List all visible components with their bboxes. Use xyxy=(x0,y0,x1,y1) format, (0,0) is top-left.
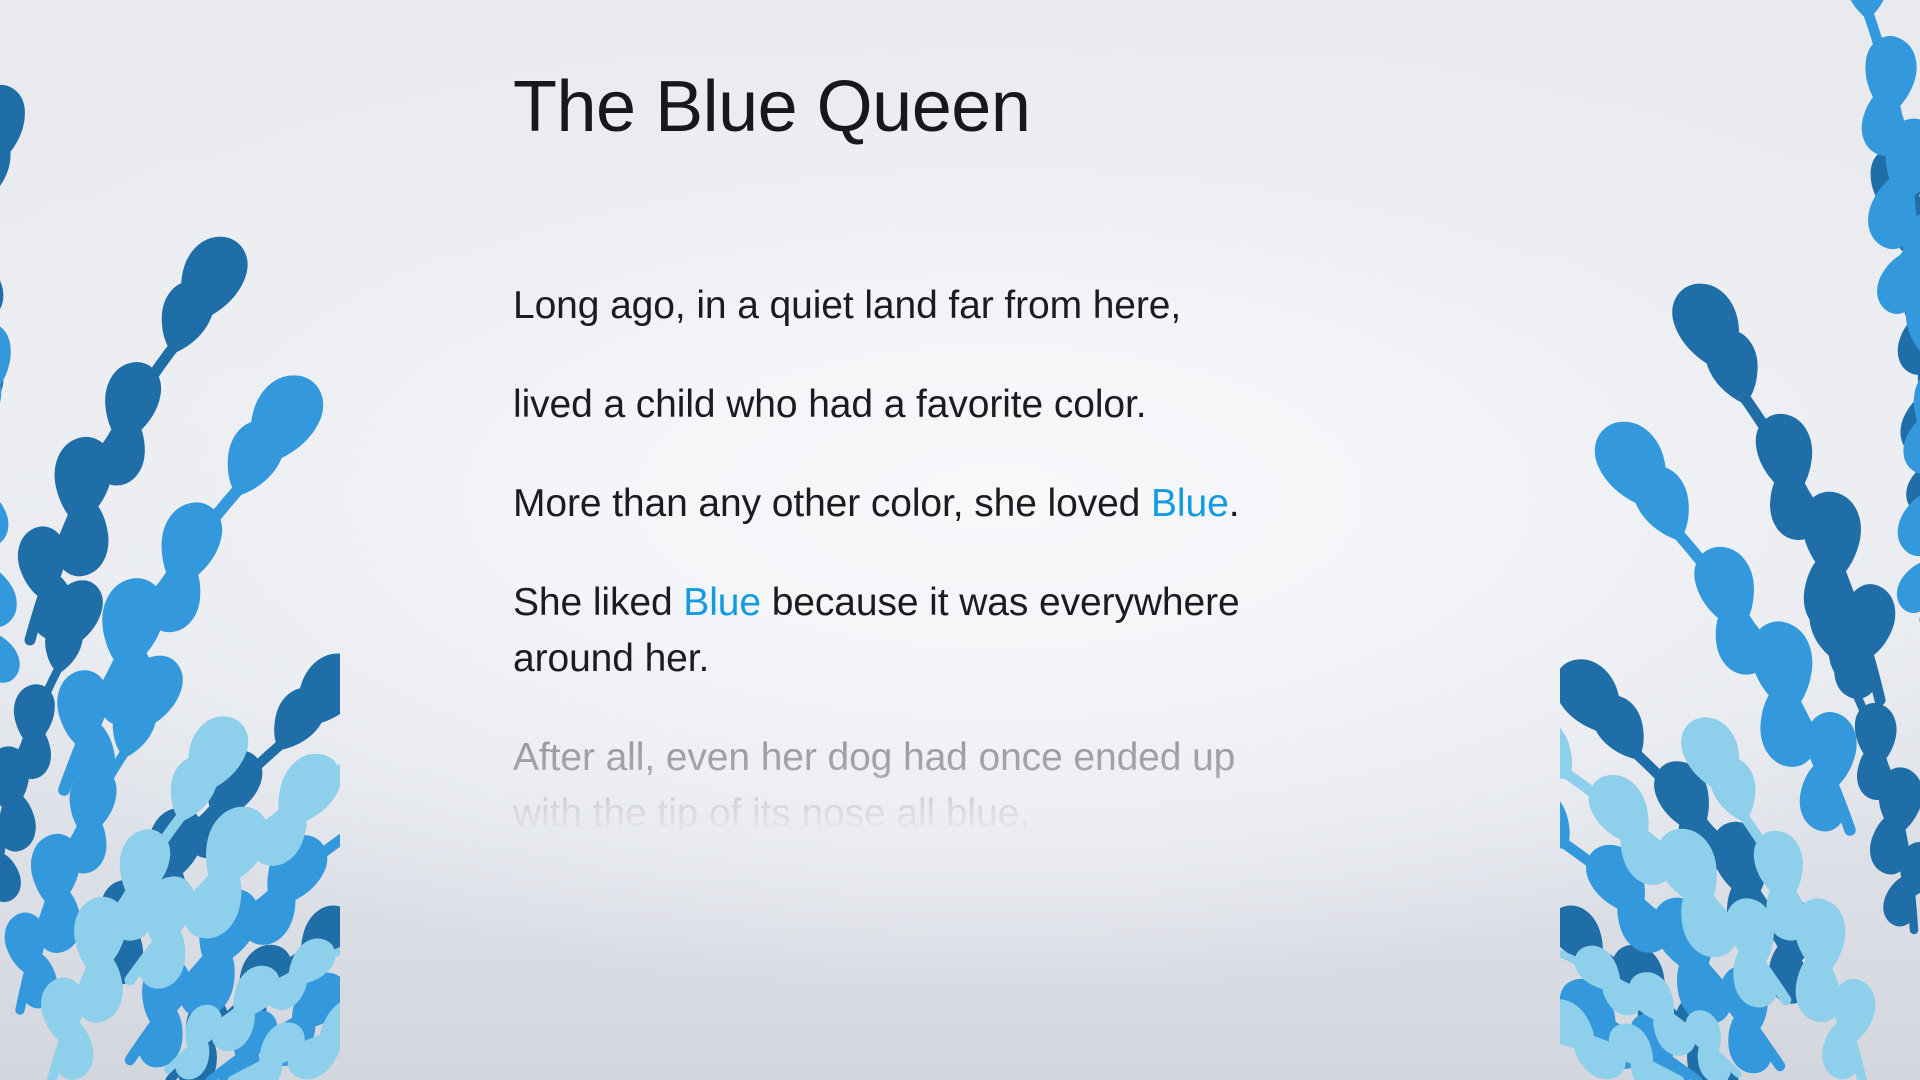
story-body: Long ago, in a quiet land far from here,… xyxy=(513,278,1453,842)
paragraph-1: Long ago, in a quiet land far from here, xyxy=(513,278,1453,334)
paragraph-4: She liked Blue because it was everywhere… xyxy=(513,575,1453,687)
story-text: because it was everywhere xyxy=(761,581,1240,624)
paragraph-2: lived a child who had a favorite color. xyxy=(513,377,1453,433)
story-text: More than any other color, she loved xyxy=(513,482,1151,525)
paragraph-5: After all, even her dog had once ended u… xyxy=(513,730,1453,842)
paragraph-3: More than any other color, she loved Blu… xyxy=(513,476,1453,532)
leafy-branch-ornament-left xyxy=(0,0,340,1080)
story-text: Long ago, in a quiet land far from here, xyxy=(513,284,1181,327)
story-text: lived a child who had a favorite color. xyxy=(513,383,1146,426)
accent-word-blue: Blue xyxy=(683,581,761,624)
accent-word-blue: Blue xyxy=(1151,482,1229,525)
story-text: . xyxy=(1229,482,1240,525)
leafy-branch-ornament-right xyxy=(1560,0,1920,1080)
story-text: After all, even her dog had once ended u… xyxy=(513,736,1235,779)
story-text: around her. xyxy=(513,637,709,680)
story-content: The Blue Queen Long ago, in a quiet land… xyxy=(513,0,1453,1080)
story-text: with the tip of its nose all blue, xyxy=(513,792,1030,835)
slide-canvas: The Blue Queen Long ago, in a quiet land… xyxy=(0,0,1920,1080)
story-text: She liked xyxy=(513,581,683,624)
page-title: The Blue Queen xyxy=(513,66,1030,148)
